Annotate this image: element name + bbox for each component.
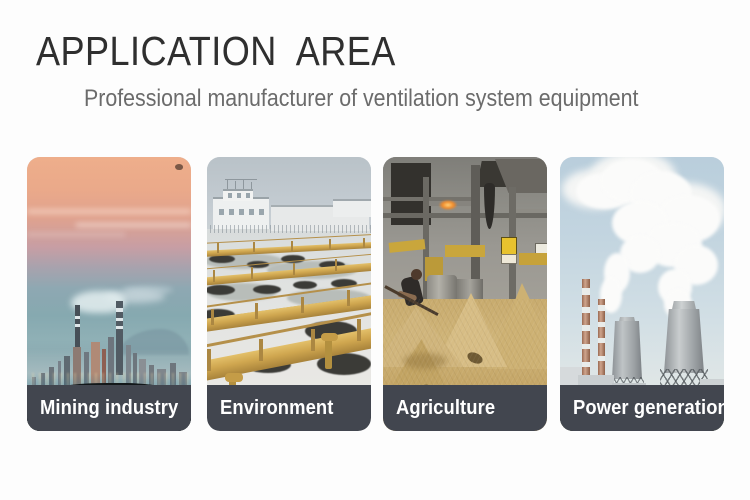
card-label-bar-agriculture: Agriculture <box>383 385 547 431</box>
application-card-agriculture[interactable]: Agriculture <box>383 157 547 431</box>
card-label-text: Mining industry <box>40 397 178 420</box>
bird-speck-icon <box>175 164 183 170</box>
card-label-text: Power generation <box>573 397 724 420</box>
application-card-environment[interactable]: Environment <box>207 157 371 431</box>
card-label-bar-mining-industry: Mining industry <box>27 385 191 431</box>
application-card-power-generation[interactable]: Power generation <box>560 157 724 431</box>
card-label-text: Agriculture <box>396 397 495 420</box>
page-header: APPLICATION AREA Professional manufactur… <box>0 0 750 140</box>
page-subtitle: Professional manufacturer of ventilation… <box>84 84 638 114</box>
application-card-mining-industry[interactable]: Mining industry <box>27 157 191 431</box>
application-area-card-grid: Mining industry <box>27 157 723 431</box>
card-label-bar-environment: Environment <box>207 385 371 431</box>
page-title: APPLICATION AREA <box>36 28 396 74</box>
card-label-text: Environment <box>220 397 333 420</box>
card-label-bar-power-generation: Power generation <box>560 385 724 431</box>
